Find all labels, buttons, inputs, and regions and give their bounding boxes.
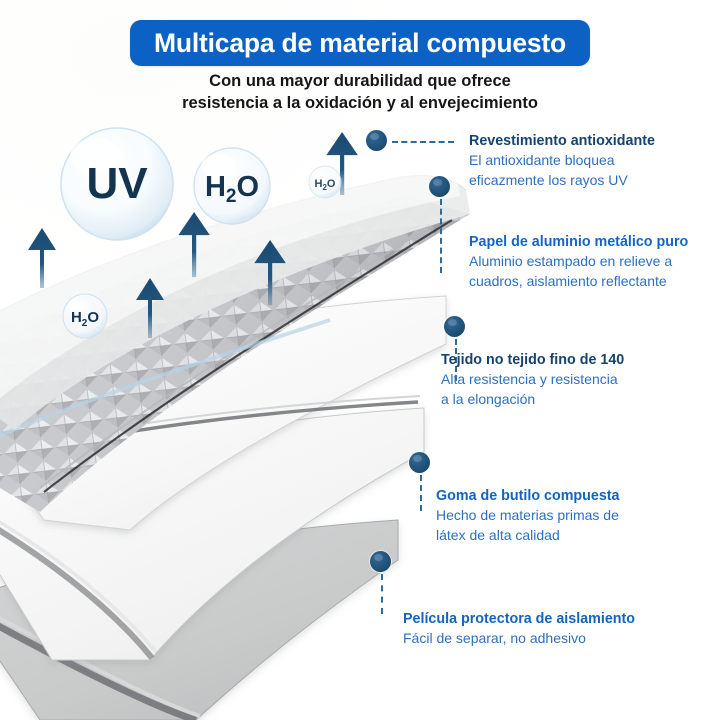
callout-title-antioxidant-coating: Revestimiento antioxidante [469, 132, 655, 151]
callout-butyl-rubber: Goma de butilo compuesta Hecho de materi… [436, 487, 620, 545]
callout-title-protective-film: Película protectora de aislamiento [403, 610, 635, 629]
callout-marker-non-woven-fabric[interactable] [444, 316, 465, 337]
callout-protective-film: Película protectora de aislamiento Fácil… [403, 610, 635, 649]
callout-marker-butyl-rubber[interactable] [409, 452, 430, 473]
infographic-canvas: UV H2O H2O H2O Multicapa de material com… [0, 0, 720, 720]
page-title-banner: Multicapa de material compuesto [130, 20, 590, 66]
callout-body-butyl-rubber: Hecho de materias primas de látex de alt… [436, 506, 620, 545]
page-subtitle: Con una mayor durabilidad que ofrece res… [110, 70, 610, 114]
svg-text:UV: UV [86, 159, 148, 208]
callout-marker-aluminium-foil[interactable] [429, 176, 450, 197]
callout-body-aluminium-foil: Aluminio estampado en relieve a cuadros,… [469, 252, 688, 291]
callout-title-non-woven-fabric: Tejido no tejido fino de 140 [441, 351, 624, 370]
h2o-bubble-tiny: H2O [309, 166, 341, 198]
page-title: Multicapa de material compuesto [154, 28, 566, 59]
callout-body-antioxidant-coating: El antioxidante bloquea eficazmente los … [469, 151, 655, 190]
leader-line-antioxidant-coating [392, 141, 454, 143]
callout-antioxidant-coating: Revestimiento antioxidante El antioxidan… [469, 132, 655, 190]
callout-title-butyl-rubber: Goma de butilo compuesta [436, 487, 620, 506]
leader-line-aluminium-foil [440, 199, 442, 273]
leader-line-butyl-rubber [420, 475, 422, 511]
callout-body-protective-film: Fácil de separar, no adhesivo [403, 629, 635, 649]
callout-marker-antioxidant-coating[interactable] [366, 130, 387, 151]
uv-bubble: UV [61, 128, 173, 240]
callout-title-aluminium-foil: Papel de aluminio metálico puro [469, 233, 688, 252]
subtitle-line-2: resistencia a la oxidación y al envejeci… [110, 92, 610, 114]
callout-aluminium-foil: Papel de aluminio metálico puro Aluminio… [469, 233, 688, 291]
h2o-bubble-small: H2O [63, 294, 107, 338]
callout-marker-protective-film[interactable] [370, 551, 391, 572]
subtitle-line-1: Con una mayor durabilidad que ofrece [110, 70, 610, 92]
h2o-bubble-medium: H2O [194, 148, 270, 224]
leader-line-protective-film [381, 574, 383, 614]
callout-non-woven-fabric: Tejido no tejido fino de 140 Alta resist… [441, 351, 624, 409]
callout-body-non-woven-fabric: Alta resistencia y resistencia a la elon… [441, 370, 624, 409]
